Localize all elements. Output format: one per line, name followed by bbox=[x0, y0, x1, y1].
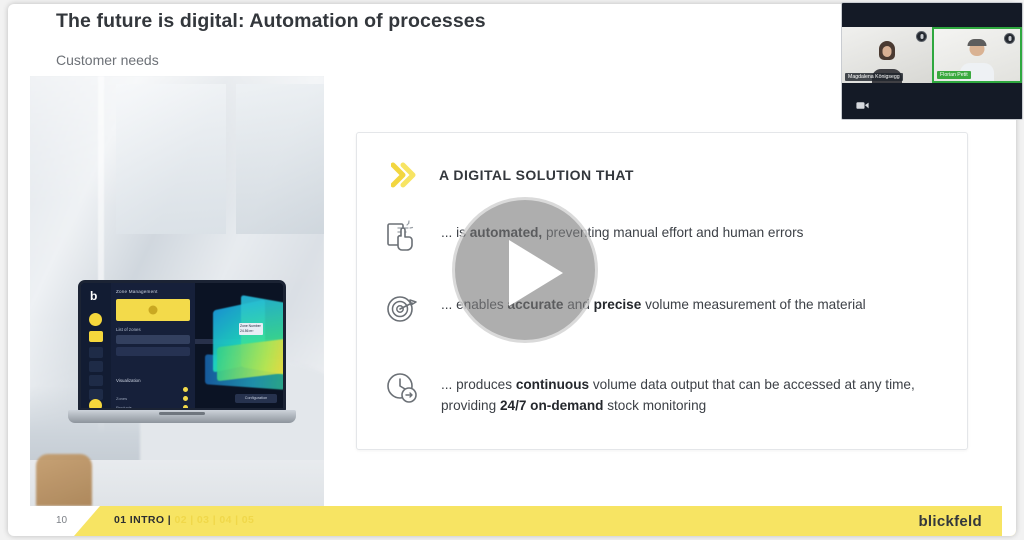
participant-name: Florian Petit bbox=[937, 71, 971, 79]
photo-person bbox=[36, 454, 92, 506]
target-bullseye-icon bbox=[385, 291, 419, 325]
bullet-bold-2: precise bbox=[594, 297, 642, 312]
camera-icon[interactable] bbox=[856, 101, 869, 110]
dashboard-panel: Zone Management List of zones Visualizat… bbox=[111, 283, 195, 408]
photo-window-left bbox=[116, 84, 226, 234]
dashboard-nav-item bbox=[89, 313, 102, 326]
participant-name: Magdalena Königsegg bbox=[845, 73, 903, 81]
clock-continuous-icon bbox=[385, 371, 419, 405]
dashboard-sidebar: b bbox=[81, 283, 111, 408]
dashboard-nav-item bbox=[89, 375, 103, 386]
dashboard-app-title: Zone Management bbox=[116, 289, 190, 294]
screenshot-root: The future is digital: Automation of pro… bbox=[0, 0, 1024, 540]
dashboard-logo: b bbox=[90, 290, 102, 303]
dashboard-nav-item bbox=[89, 331, 103, 342]
participant-tile[interactable]: Magdalena Königsegg bbox=[842, 27, 932, 83]
toggle-dot-icon bbox=[183, 396, 188, 401]
page-subtitle: Customer needs bbox=[56, 52, 159, 68]
pointcloud-viewport: Zone Number 24.56 m³ Configuration bbox=[195, 283, 283, 408]
mic-muted-icon bbox=[916, 31, 927, 42]
participant-avatar bbox=[970, 42, 985, 56]
mic-muted-icon bbox=[1004, 33, 1015, 44]
illustration-photo: b Zone Management List of zones bbox=[30, 76, 324, 506]
card-heading-row: A DIGITAL SOLUTION THAT bbox=[391, 161, 634, 189]
section-navigation: 01 INTRO | 02 | 03 | 04 | 05 bbox=[114, 514, 254, 526]
dashboard-viz-row: Products bbox=[116, 396, 190, 401]
dashboard-alert bbox=[116, 299, 190, 321]
participant-tiles: Magdalena Königsegg Florian Petit bbox=[842, 27, 1022, 83]
dashboard-nav-item bbox=[89, 361, 103, 372]
dashboard-row bbox=[116, 335, 190, 344]
bullet-lead: ... produces bbox=[441, 377, 516, 392]
bullet-rest-2: stock monitoring bbox=[603, 398, 706, 413]
video-controls-bar bbox=[842, 93, 1022, 119]
dashboard-list-label: List of zones bbox=[116, 327, 190, 332]
dashboard-nav-item bbox=[89, 347, 103, 358]
dashboard-viz-title: Visualization bbox=[116, 378, 190, 383]
toggle-dot-icon bbox=[183, 387, 188, 392]
page-number: 10 bbox=[56, 515, 67, 526]
dashboard-row bbox=[116, 347, 190, 356]
video-conference-panel[interactable]: Magdalena Königsegg Florian Petit bbox=[841, 2, 1023, 120]
bullet-bold-2: 24/7 on-demand bbox=[500, 398, 604, 413]
participant-tile-active[interactable]: Florian Petit bbox=[932, 27, 1022, 83]
play-button[interactable] bbox=[452, 197, 598, 343]
slide-footer: 10 01 INTRO | 02 | 03 | 04 | 05 blickfel… bbox=[8, 506, 1016, 536]
laptop-mockup: b Zone Management List of zones bbox=[68, 280, 296, 430]
bullet-rest-2: volume measurement of the material bbox=[641, 297, 865, 312]
footer-right-gap bbox=[1002, 506, 1016, 536]
section-active[interactable]: 01 INTRO | bbox=[114, 514, 171, 526]
play-triangle-icon bbox=[509, 240, 563, 306]
laptop-base bbox=[68, 410, 296, 423]
dashboard-viz-row: Zones bbox=[116, 387, 190, 392]
double-chevron-right-icon bbox=[391, 161, 417, 189]
laptop-screen: b Zone Management List of zones bbox=[78, 280, 286, 411]
bullet-text: ... produces continuous volume data outp… bbox=[441, 371, 951, 416]
pointcloud-tooltip: Zone Number 24.56 m³ bbox=[239, 323, 263, 335]
section-rest[interactable]: 02 | 03 | 04 | 05 bbox=[174, 514, 254, 526]
bullet-item: ... produces continuous volume data outp… bbox=[385, 371, 951, 416]
configuration-button: Configuration bbox=[235, 394, 277, 403]
card-heading: A DIGITAL SOLUTION THAT bbox=[439, 167, 634, 183]
page-title: The future is digital: Automation of pro… bbox=[56, 10, 486, 33]
content-card: A DIGITAL SOLUTION THAT ... is automated… bbox=[356, 132, 968, 450]
participant-avatar bbox=[879, 41, 895, 60]
brand-logo: blickfeld bbox=[918, 513, 982, 530]
photo-window-right bbox=[236, 84, 324, 234]
tooltip-title: Zone Number bbox=[240, 324, 261, 328]
bullet-bold: continuous bbox=[516, 377, 589, 392]
tooltip-value: 24.56 m³ bbox=[240, 329, 253, 333]
hand-touch-screen-icon bbox=[385, 219, 419, 253]
